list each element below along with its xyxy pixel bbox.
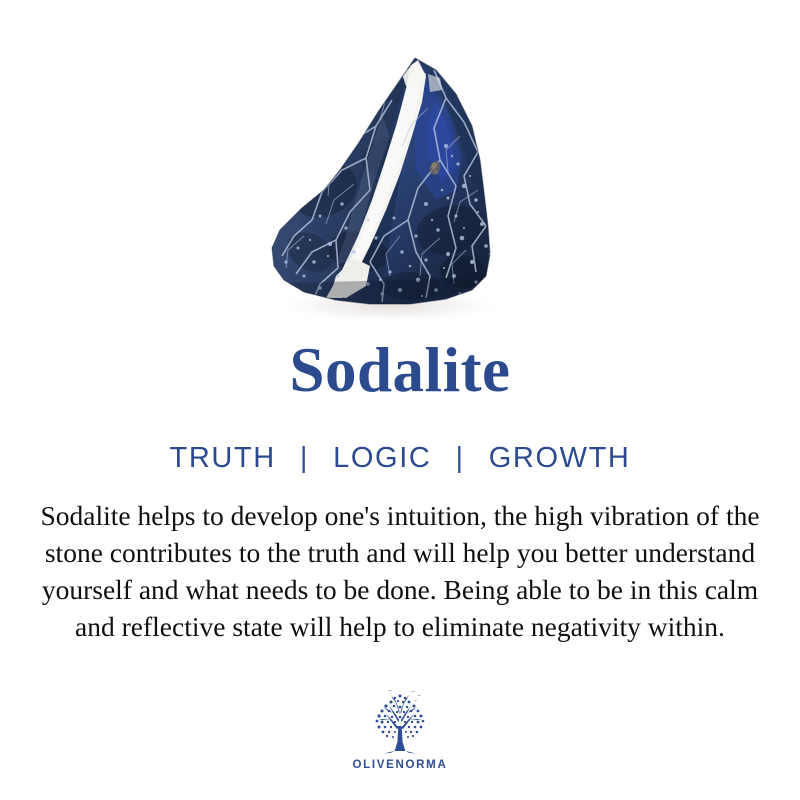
brand-logo: OLIVENORMA <box>340 686 460 771</box>
keyword-separator-1: | <box>285 440 323 476</box>
sodalite-crystal-point <box>250 40 550 330</box>
page-title: Sodalite <box>0 334 800 406</box>
keyword-growth: GROWTH <box>489 442 631 474</box>
keyword-separator-2: | <box>441 440 479 476</box>
brand-wordmark: OLIVENORMA <box>340 759 460 771</box>
keyword-logic: LOGIC <box>333 442 431 474</box>
keyword-truth: TRUTH <box>170 442 276 474</box>
crystal-info-card: Sodalite TRUTH | LOGIC | GROWTH Sodalite… <box>0 0 800 800</box>
tree-of-life-logo <box>364 686 436 758</box>
bird-icon <box>388 690 421 701</box>
stone-image-area <box>0 0 800 330</box>
keyword-row: TRUTH | LOGIC | GROWTH <box>0 440 800 476</box>
description-text: Sodalite helps to develop one's intuitio… <box>26 497 774 645</box>
